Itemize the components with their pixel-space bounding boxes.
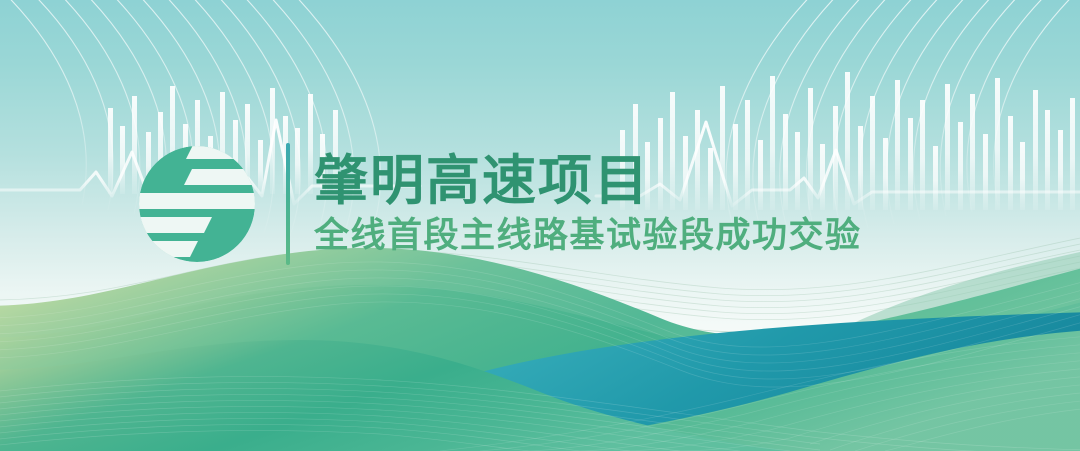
title-stack: 肇明高速项目 全线首段主线路基试验段成功交验 [314,152,862,257]
title-divider [286,143,290,265]
banner-header-block: 肇明高速项目 全线首段主线路基试验段成功交验 [138,143,862,265]
page-title: 肇明高速项目 [314,152,862,210]
road-circle-logo-icon [138,145,256,263]
hero-banner: 肇明高速项目 全线首段主线路基试验段成功交验 [0,0,1080,451]
page-subtitle: 全线首段主线路基试验段成功交验 [314,216,862,256]
